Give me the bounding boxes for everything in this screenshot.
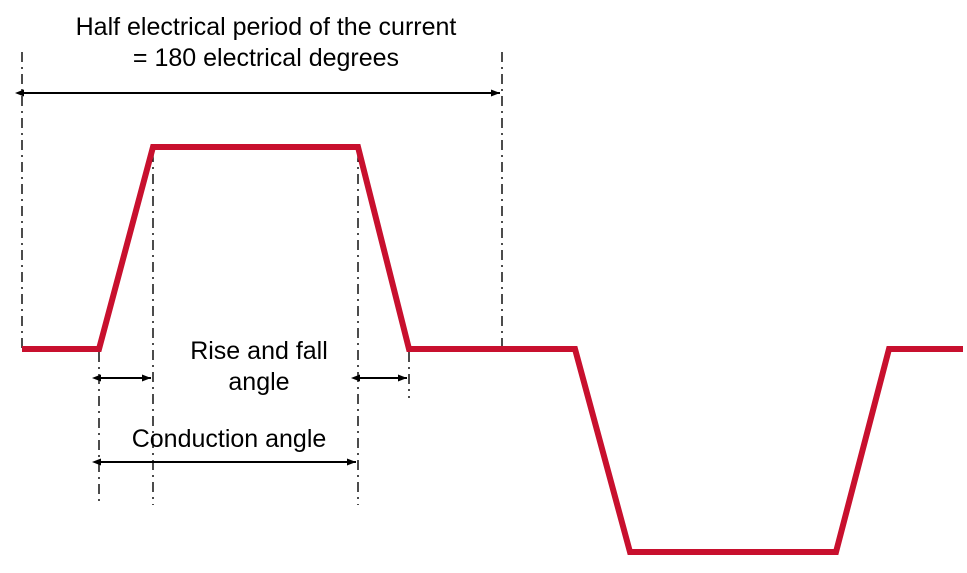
conduction-angle-label: Conduction angle	[92, 424, 366, 455]
waveform-svg	[0, 0, 967, 573]
half-period-label: Half electrical period of the current = …	[12, 12, 520, 73]
diagram-canvas: Half electrical period of the current = …	[0, 0, 967, 573]
rise-and-fall-angle-label: Rise and fall angle	[150, 336, 368, 397]
